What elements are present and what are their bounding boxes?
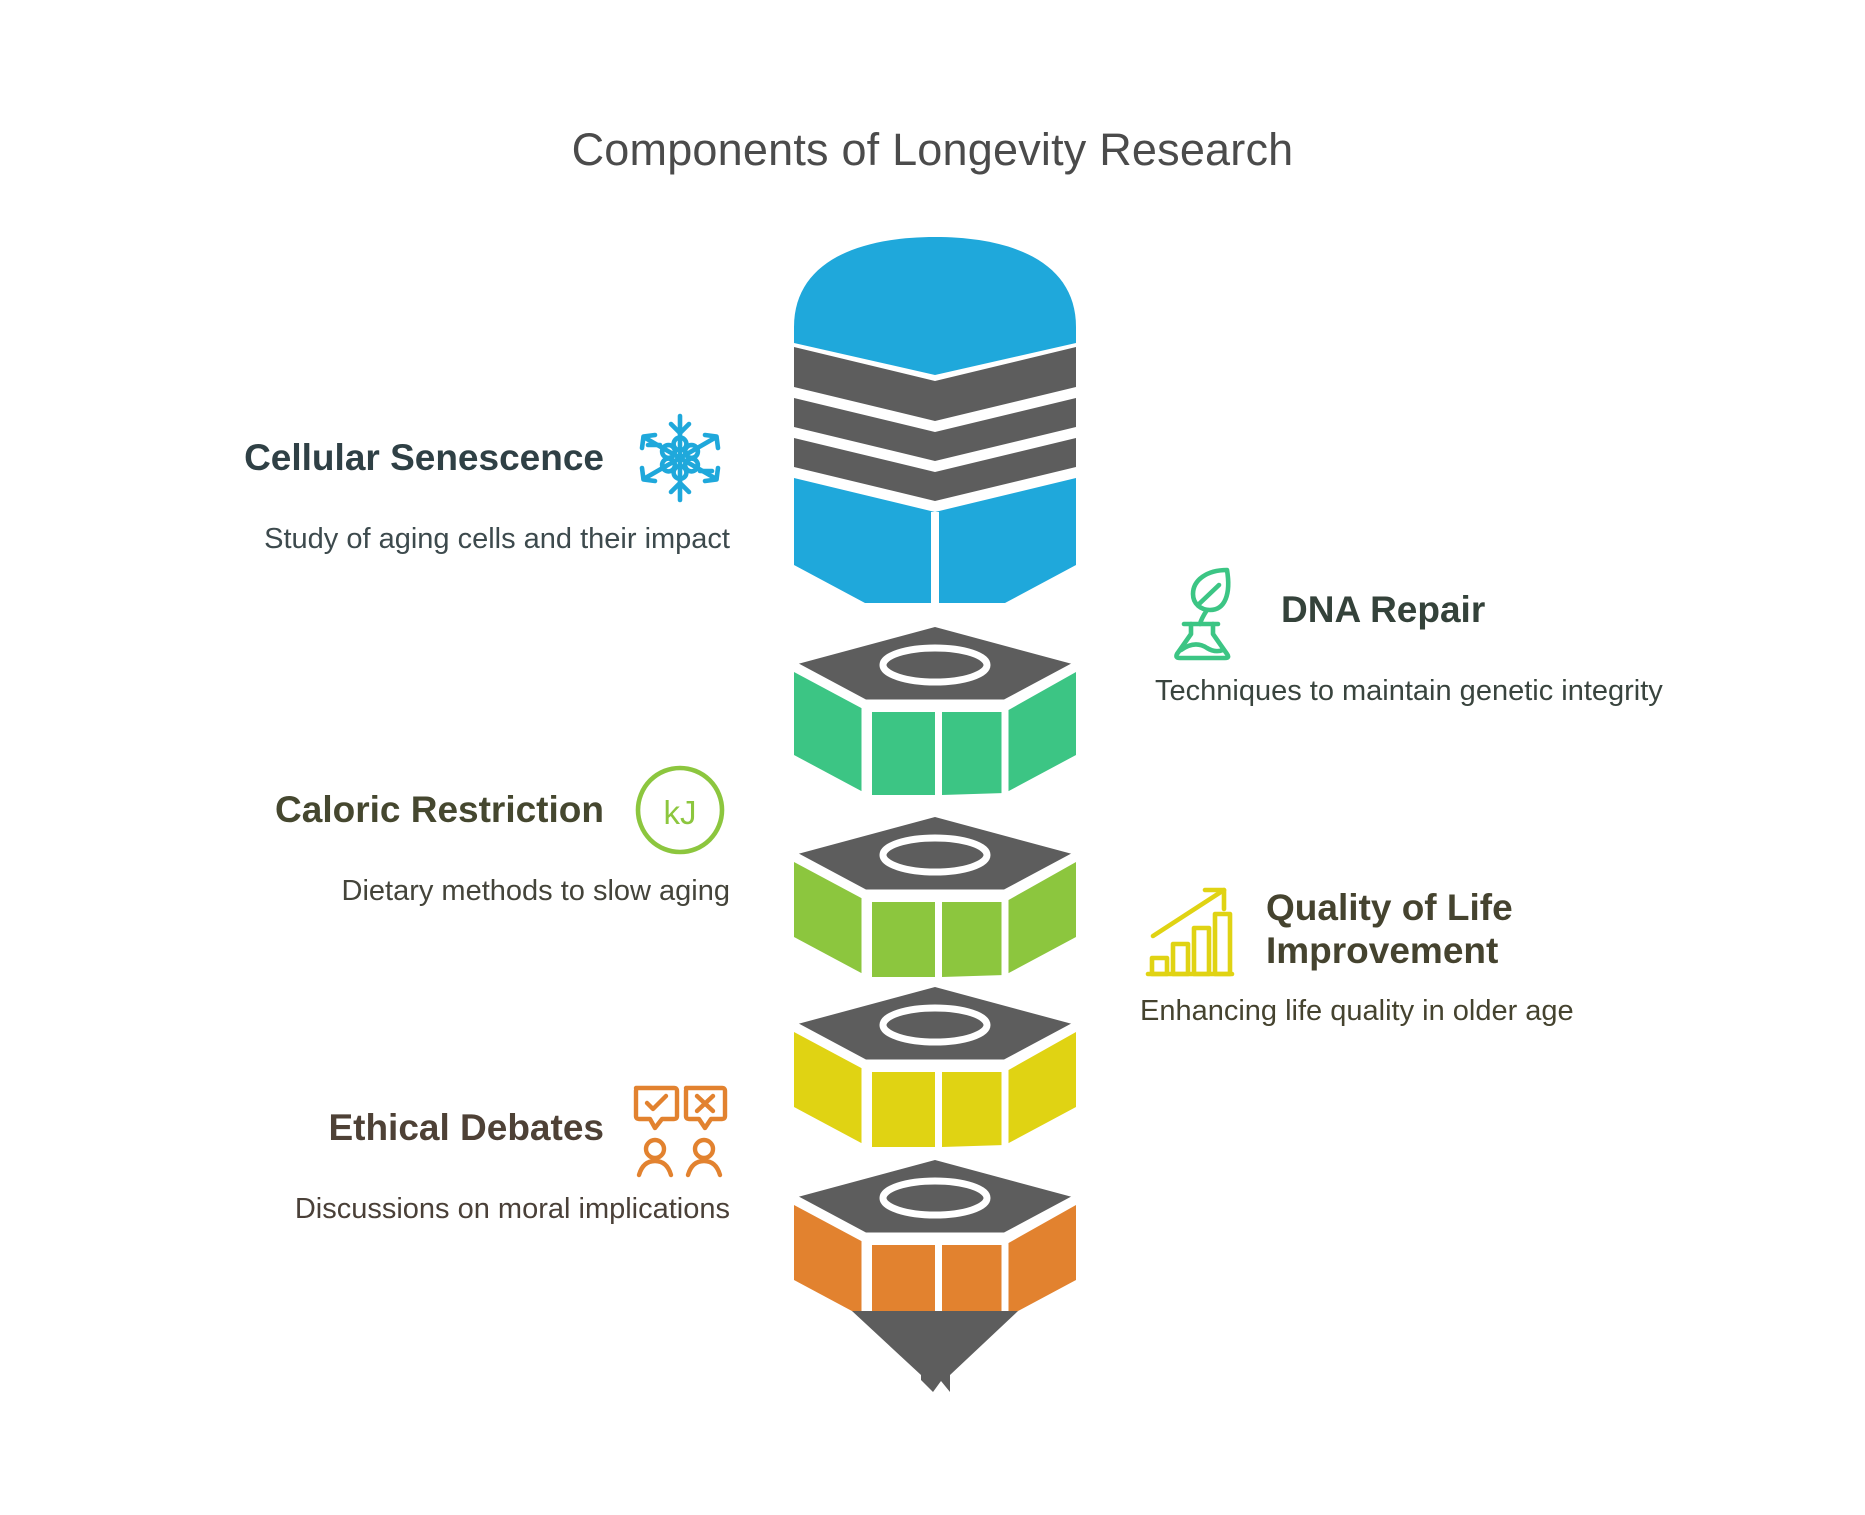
snowflake-icon xyxy=(630,408,730,508)
section-heading: Cellular Senescence xyxy=(244,437,604,480)
section-description: Techniques to maintain genetic integrity xyxy=(1155,673,1855,711)
section-dna-repair: DNA Repair Techniques to maintain geneti… xyxy=(1155,560,1855,711)
kilojoule-label: kJ xyxy=(664,794,697,831)
section-description: Enhancing life quality in older age xyxy=(1140,993,1860,1031)
funnel-segment-ethical-debates xyxy=(794,1160,1076,1322)
growth-chart-icon xyxy=(1140,880,1240,980)
funnel-tip xyxy=(852,1311,1018,1392)
section-heading: Caloric Restriction xyxy=(275,789,604,832)
funnel-segment-cellular-senescence xyxy=(794,237,1076,603)
page-title: Components of Longevity Research xyxy=(0,124,1865,176)
section-quality-of-life: Quality of Life Improvement Enhancing li… xyxy=(1140,880,1860,1031)
funnel-segment-caloric-restriction xyxy=(794,817,1076,979)
section-description: Discussions on moral implications xyxy=(40,1191,730,1229)
section-caloric-restriction: Caloric Restriction kJ Dietary methods t… xyxy=(40,760,730,911)
flask-leaf-icon xyxy=(1155,560,1255,660)
section-heading: Quality of Life Improvement xyxy=(1266,887,1513,973)
debate-bubbles-icon xyxy=(630,1078,730,1178)
kilojoule-circle-icon: kJ xyxy=(630,760,730,860)
funnel-diagram xyxy=(790,235,1080,1395)
funnel-segment-dna-repair xyxy=(794,627,1076,797)
section-description: Dietary methods to slow aging xyxy=(40,873,730,911)
section-heading: Ethical Debates xyxy=(328,1107,604,1150)
section-ethical-debates: Ethical Debates Discussions on moral imp… xyxy=(40,1078,730,1229)
section-description: Study of aging cells and their impact xyxy=(40,521,730,559)
funnel-segment-quality-of-life xyxy=(794,987,1076,1149)
section-heading: DNA Repair xyxy=(1281,589,1485,632)
section-cellular-senescence: Cellular Senescence xyxy=(40,408,730,559)
